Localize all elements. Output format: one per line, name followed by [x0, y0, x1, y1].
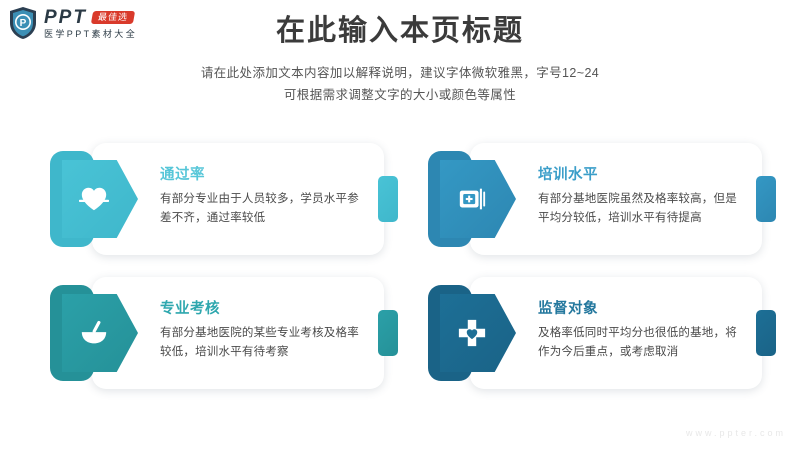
footer-watermark: www.ppter.com	[686, 428, 786, 438]
card-4[interactable]: 监督对象 及格率低同时平均分也很低的基地，将作为今后重点，或考虑取消	[428, 277, 762, 389]
subtitle-line-1: 请在此处添加文本内容加以解释说明，建议字体微软雅黑，字号12~24	[0, 63, 800, 85]
cross-heart-icon	[457, 318, 487, 348]
heart-pulse-icon	[79, 184, 109, 214]
card-3-tab	[378, 310, 398, 356]
card-3-desc: 有部分基地医院的某些专业考核及格率较低，培训水平有待考察	[160, 324, 362, 362]
card-1-title: 通过率	[160, 163, 362, 184]
page-header: 在此输入本页标题 请在此处添加文本内容加以解释说明，建议字体微软雅黑，字号12~…	[0, 14, 800, 107]
card-3[interactable]: 专业考核 有部分基地医院的某些专业考核及格率较低，培训水平有待考察	[50, 277, 384, 389]
card-4-tab	[756, 310, 776, 356]
card-4-title: 监督对象	[538, 297, 740, 318]
card-4-desc: 及格率低同时平均分也很低的基地，将作为今后重点，或考虑取消	[538, 324, 740, 362]
card-2-tab	[756, 176, 776, 222]
page-subtitle: 请在此处添加文本内容加以解释说明，建议字体微软雅黑，字号12~24 可根据需求调…	[0, 63, 800, 107]
mortar-pestle-icon	[79, 318, 109, 348]
subtitle-line-2: 可根据需求调整文字的大小或颜色等属性	[0, 85, 800, 107]
card-1-desc: 有部分专业由于人员较多，学员水平参差不齐，通过率较低	[160, 190, 362, 228]
medical-book-icon	[457, 184, 487, 214]
card-grid: 通过率 有部分专业由于人员较多，学员水平参差不齐，通过率较低 培训水平 有部分基…	[50, 143, 762, 389]
card-1[interactable]: 通过率 有部分专业由于人员较多，学员水平参差不齐，通过率较低	[50, 143, 384, 255]
card-2-desc: 有部分基地医院虽然及格率较高，但是平均分较低，培训水平有待提高	[538, 190, 740, 228]
card-2-title: 培训水平	[538, 163, 740, 184]
card-1-tab	[378, 176, 398, 222]
card-2[interactable]: 培训水平 有部分基地医院虽然及格率较高，但是平均分较低，培训水平有待提高	[428, 143, 762, 255]
card-3-title: 专业考核	[160, 297, 362, 318]
page-title: 在此输入本页标题	[0, 14, 800, 49]
